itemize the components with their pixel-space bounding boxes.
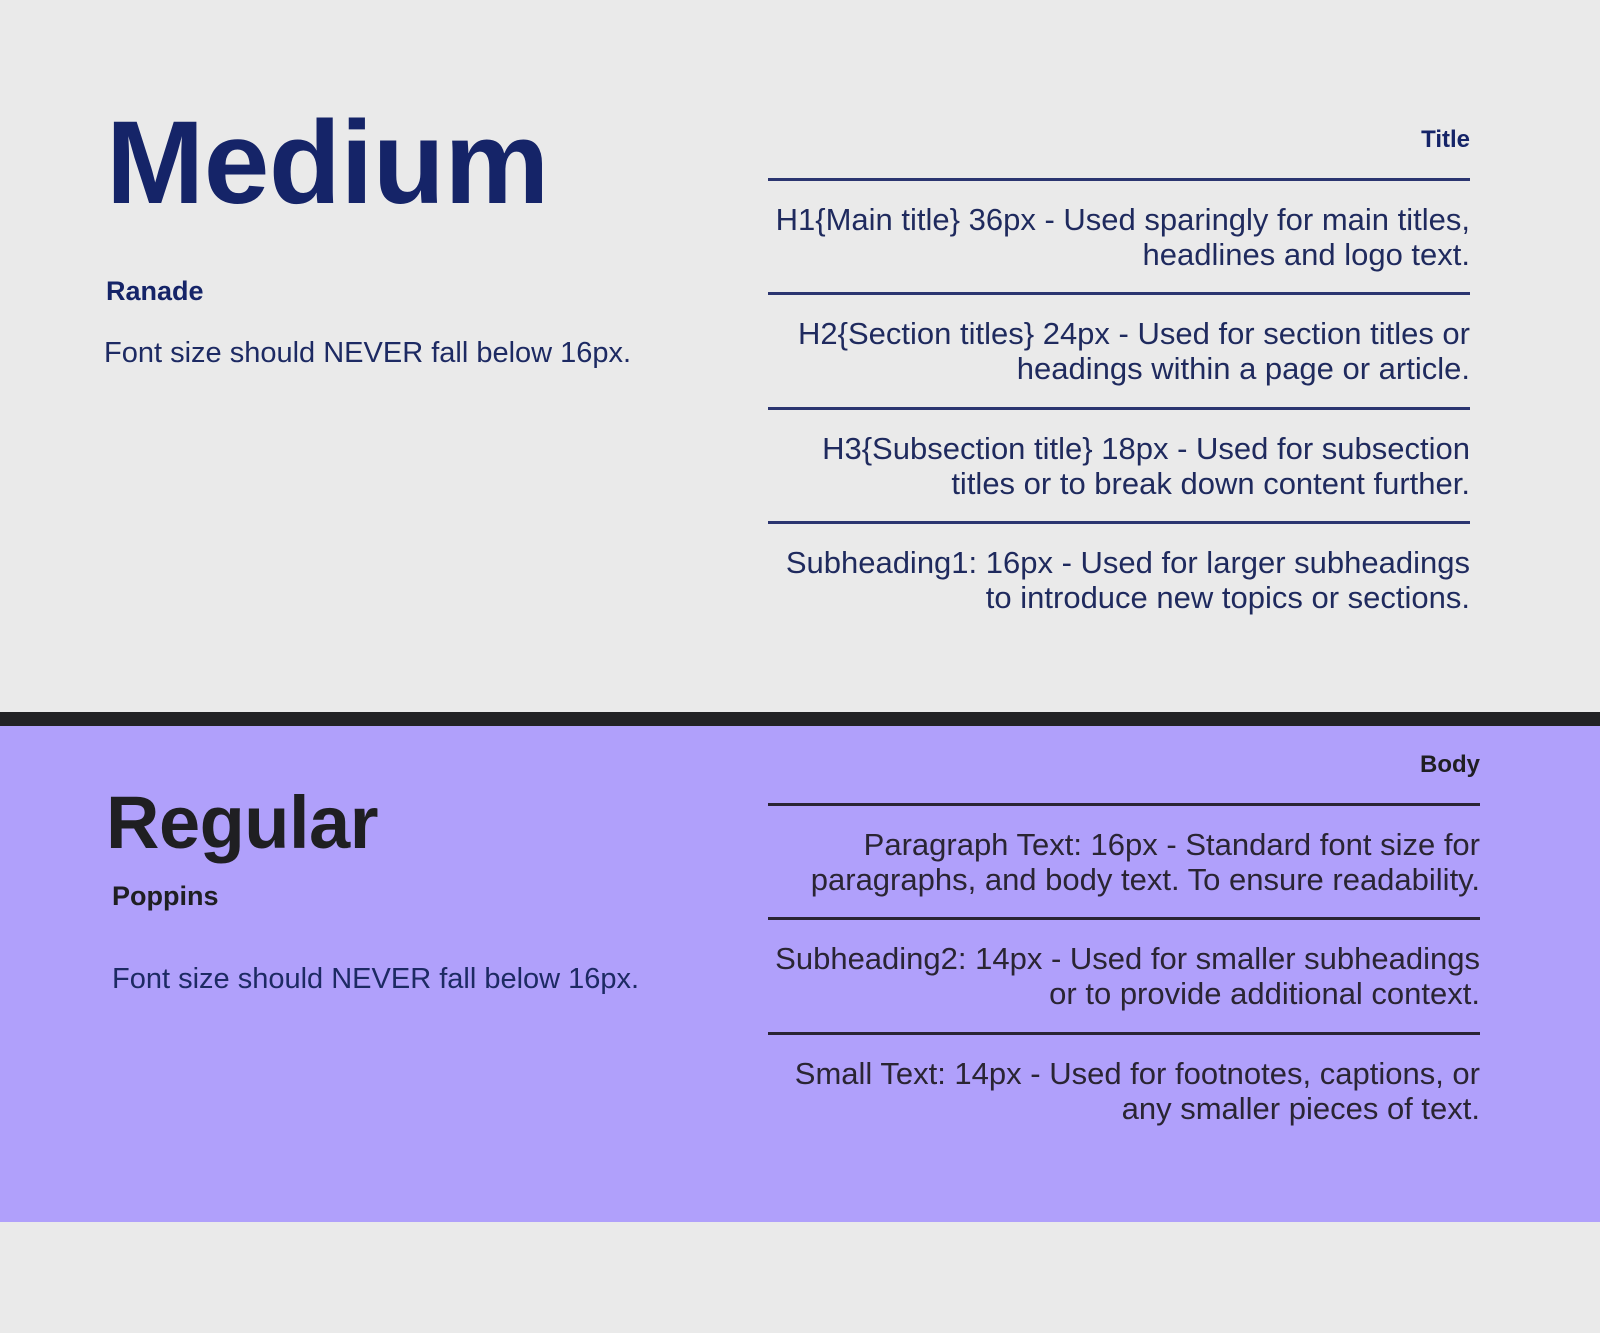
body-scale-section: Regular Poppins Font size should NEVER f… (0, 726, 1600, 1222)
body-scale-label: Body (768, 753, 1480, 777)
scale-entry-small-text: Small Text: 14px - Used for footnotes, c… (768, 1035, 1480, 1146)
title-section-font-family-name: Ranade (106, 278, 726, 305)
body-section-left-column: Regular (106, 786, 726, 860)
scale-entry-h3: H3{Subsection title} 18px - Used for sub… (768, 410, 1470, 521)
scale-entry-h1: H1{Main title} 36px - Used sparingly for… (768, 181, 1470, 292)
body-section-min-size-note: Font size should NEVER fall below 16px. (112, 963, 672, 997)
title-section-left-column: Medium (106, 104, 726, 222)
title-section-min-size-note: Font size should NEVER fall below 16px. (104, 337, 664, 371)
title-scale-label: Title (768, 128, 1470, 152)
body-section-min-size-wrap: Font size should NEVER fall below 16px. (112, 963, 672, 997)
scale-entry-subheading1: Subheading1: 16px - Used for larger subh… (768, 524, 1470, 635)
title-section-family-wrap: Ranade (106, 278, 726, 305)
title-section-weight-name: Medium (106, 104, 726, 222)
page-bottom-margin (0, 1222, 1600, 1333)
title-section-min-size-wrap: Font size should NEVER fall below 16px. (104, 337, 664, 371)
scale-entry-paragraph-text: Paragraph Text: 16px - Standard font siz… (768, 806, 1480, 917)
title-scale-section: Medium Ranade Font size should NEVER fal… (0, 0, 1600, 712)
title-scale-list: Title H1{Main title} 36px - Used sparing… (768, 128, 1470, 636)
section-divider-bar (0, 712, 1600, 726)
body-section-weight-name: Regular (106, 786, 726, 860)
body-section-family-wrap: Poppins (112, 883, 732, 910)
typography-style-guide-page: Medium Ranade Font size should NEVER fal… (0, 0, 1600, 1333)
scale-entry-h2: H2{Section titles} 24px - Used for secti… (768, 295, 1470, 406)
scale-entry-subheading2: Subheading2: 14px - Used for smaller sub… (768, 920, 1480, 1031)
body-scale-list: Body Paragraph Text: 16px - Standard fon… (768, 753, 1480, 1146)
body-section-font-family-name: Poppins (112, 883, 732, 910)
